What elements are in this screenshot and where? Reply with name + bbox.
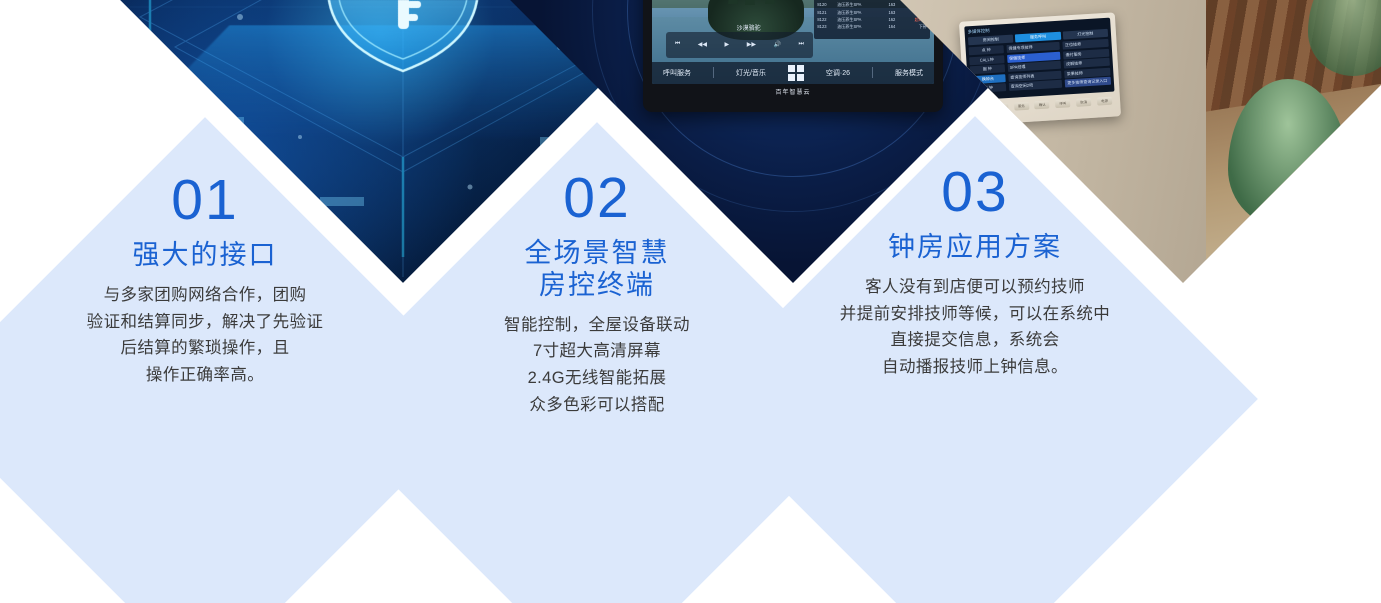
panel-footer-brand: 百年智慧云 <box>652 87 934 96</box>
key-service[interactable]: 服务 <box>1014 102 1029 111</box>
tab-light-control[interactable]: 灯光控制 <box>1063 29 1109 40</box>
dock-item-service-mode[interactable]: 服务模式 <box>895 68 923 78</box>
key-back[interactable]: 返回 <box>993 103 1008 112</box>
media-controls[interactable]: ⏮ ◀◀ ▶ ▶▶ 🔊 ⏭ <box>666 32 813 58</box>
prev-icon[interactable]: ⏮ <box>675 41 680 48</box>
key-confirm[interactable]: 确认 <box>1035 100 1050 109</box>
rewind-icon[interactable]: ◀◀ <box>698 41 707 48</box>
key-cancel[interactable]: 取消 <box>1076 98 1091 107</box>
card-body: 客人没有到店便可以预约技师 并提前安排技师等候，可以在系统中 直接提交信息，系统… <box>840 274 1110 381</box>
card-body: 与多家团购网络合作，团购 验证和结算同步，解决了先验证 后结算的繁琐操作，且 操… <box>87 282 324 389</box>
play-icon[interactable]: ▶ <box>725 41 730 48</box>
shield-lock-icon <box>308 0 498 83</box>
table-row: 8123油压养生SPA164下钟 <box>817 24 927 30</box>
card-heading: 全场景智慧 房控终端 <box>525 238 670 302</box>
panel-dock[interactable]: 呼叫服务 灯光/音乐 空调·26 服务模式 <box>652 62 934 84</box>
tab-room-control[interactable]: 房间控制 <box>968 35 1014 46</box>
card-number: 02 <box>563 170 630 227</box>
media-track-label: 沙漠骆驼 <box>737 23 761 32</box>
wall-panel-right-menu[interactable]: 正位技师 缴付服务 皮解技师 茶果技师 更多技师查询记录入口 <box>1063 39 1111 88</box>
card-number: 03 <box>941 164 1008 221</box>
forward-icon[interactable]: ▶▶ <box>747 41 756 48</box>
wall-panel-hard-keys[interactable]: 菜单 返回 服务 确认 呼叫 取消 电源 <box>969 96 1115 113</box>
wall-control-panel: 多媒体控制 房间控制 服务呼叫 灯光控制 点 钟 CALL钟 圈 钟 换 <box>959 12 1121 125</box>
wall-panel-mid-menu[interactable]: 保健专项技师 保健技师 SPA经理 查询技师列表 查询空闲2项 <box>1007 42 1063 92</box>
touch-panel-device: CHiBO 22:35 SPA6房 25℃ <box>643 0 943 112</box>
key-power[interactable]: 电源 <box>1097 97 1112 106</box>
table-row: 8122油压养生SPA162超时中 <box>817 17 927 23</box>
card-number: 01 <box>171 172 238 229</box>
tab-service-call[interactable]: 服务呼叫 <box>1015 32 1061 43</box>
card-heading: 强大的接口 <box>133 240 278 272</box>
volume-icon[interactable]: 🔊 <box>773 41 780 48</box>
card-heading: 钟房应用方案 <box>888 232 1062 264</box>
feature-diamond-stage: CHiBO 22:35 SPA6房 25℃ <box>0 0 1381 603</box>
panel-screen: 22:35 SPA6房 25℃ 11/24 客人 项目 技师 <box>652 0 934 84</box>
key-menu[interactable]: 菜单 <box>972 104 987 113</box>
apps-grid-icon[interactable] <box>788 65 804 81</box>
key-call[interactable]: 呼叫 <box>1055 99 1070 108</box>
card-body: 智能控制，全屋设备联动 7寸超大高清屏幕 2.4G无线智能拓展 众多色彩可以搭配 <box>504 312 690 419</box>
dock-item-call[interactable]: 呼叫服务 <box>663 68 691 78</box>
dock-item-ac[interactable]: 空调·26 <box>826 68 850 78</box>
dock-item-light-music[interactable]: 灯光/音乐 <box>736 68 766 78</box>
next-icon[interactable]: ⏭ <box>799 41 804 48</box>
